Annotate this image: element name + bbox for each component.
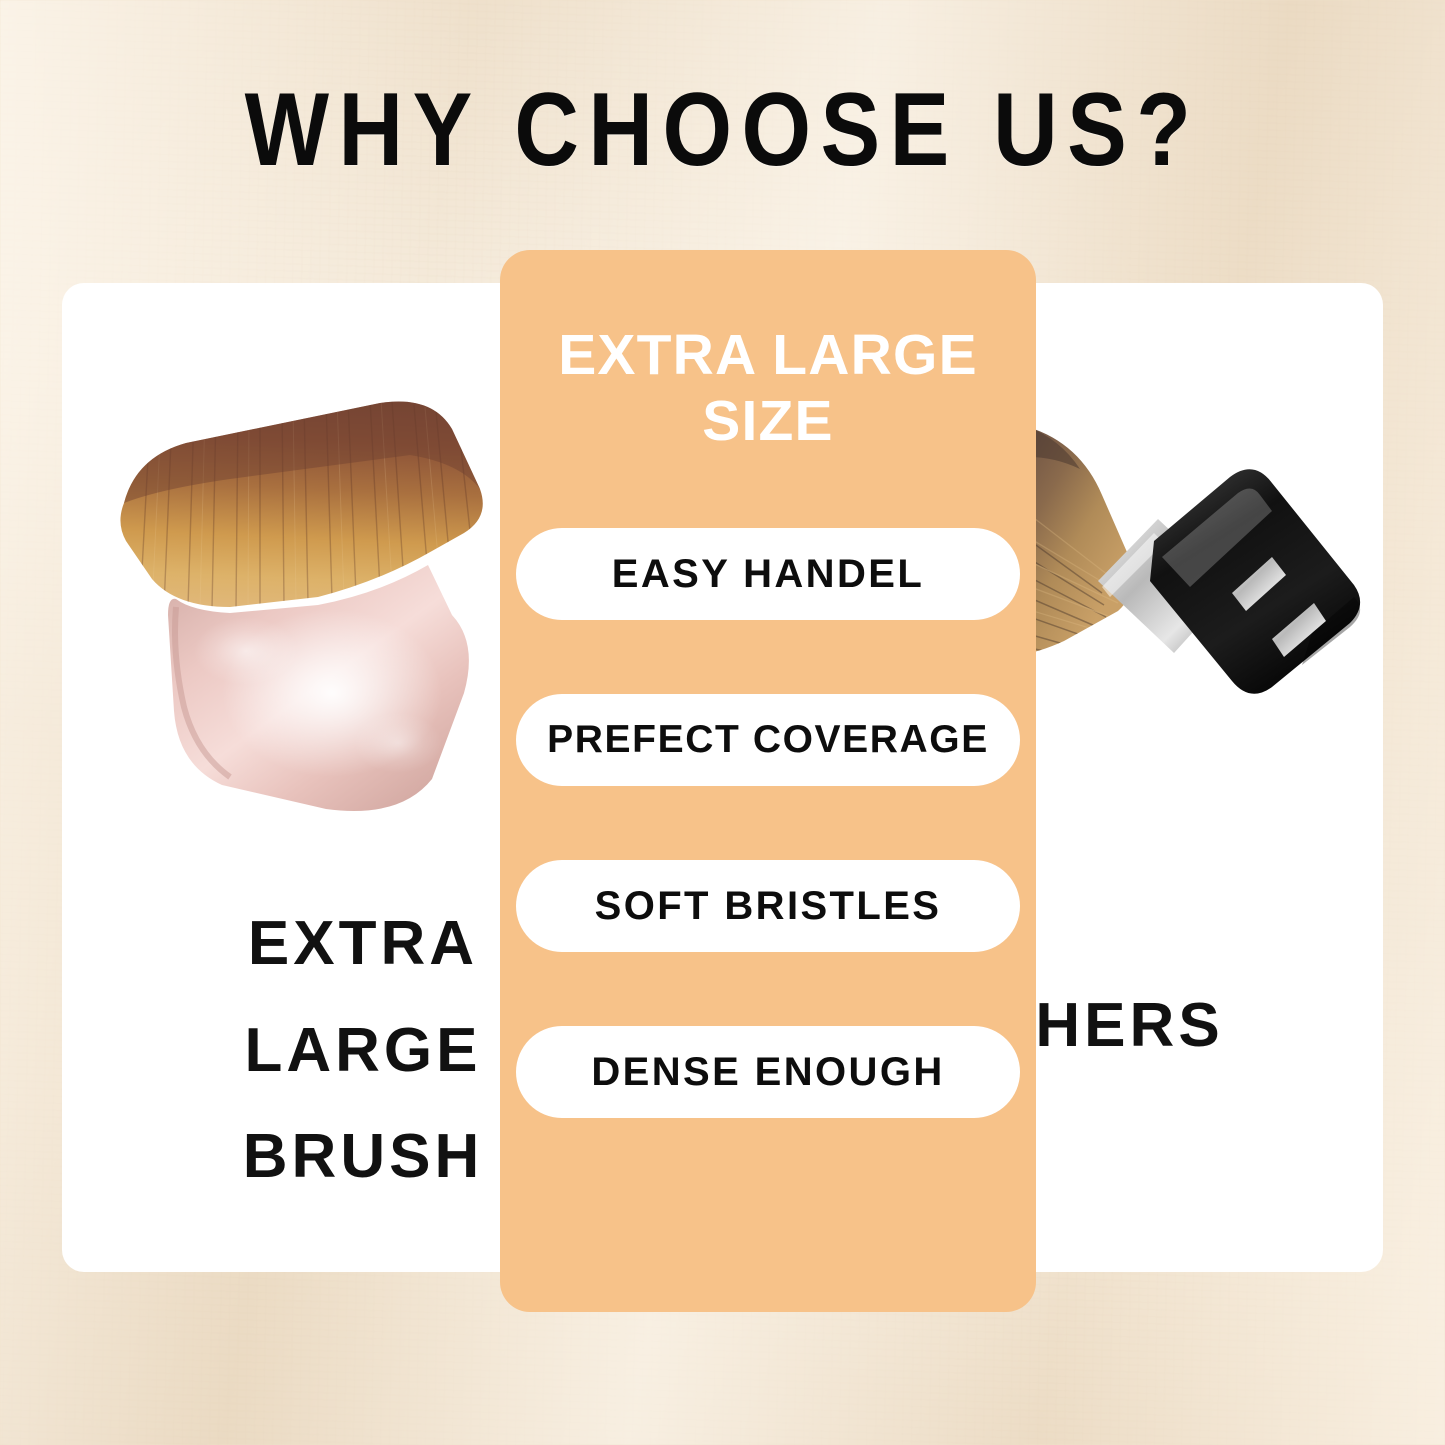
- kabuki-brush-icon: [80, 393, 520, 813]
- feature-pill-soft-bristles[interactable]: SOFT BRISTLES: [516, 860, 1020, 952]
- feature-pill-prefect-coverage[interactable]: PREFECT COVERAGE: [516, 694, 1020, 786]
- feature-pill-dense-enough[interactable]: DENSE ENOUGH: [516, 1026, 1020, 1118]
- feature-pill-easy-handel[interactable]: EASY HANDEL: [516, 528, 1020, 620]
- features-panel: EXTRA LARGE SIZE EASY HANDEL PREFECT COV…: [500, 250, 1036, 1312]
- features-panel-heading: EXTRA LARGE SIZE: [524, 322, 1012, 454]
- page-title: WHY CHOOSE US?: [101, 78, 1344, 182]
- feature-list: EASY HANDEL PREFECT COVERAGE SOFT BRISTL…: [516, 528, 1020, 1118]
